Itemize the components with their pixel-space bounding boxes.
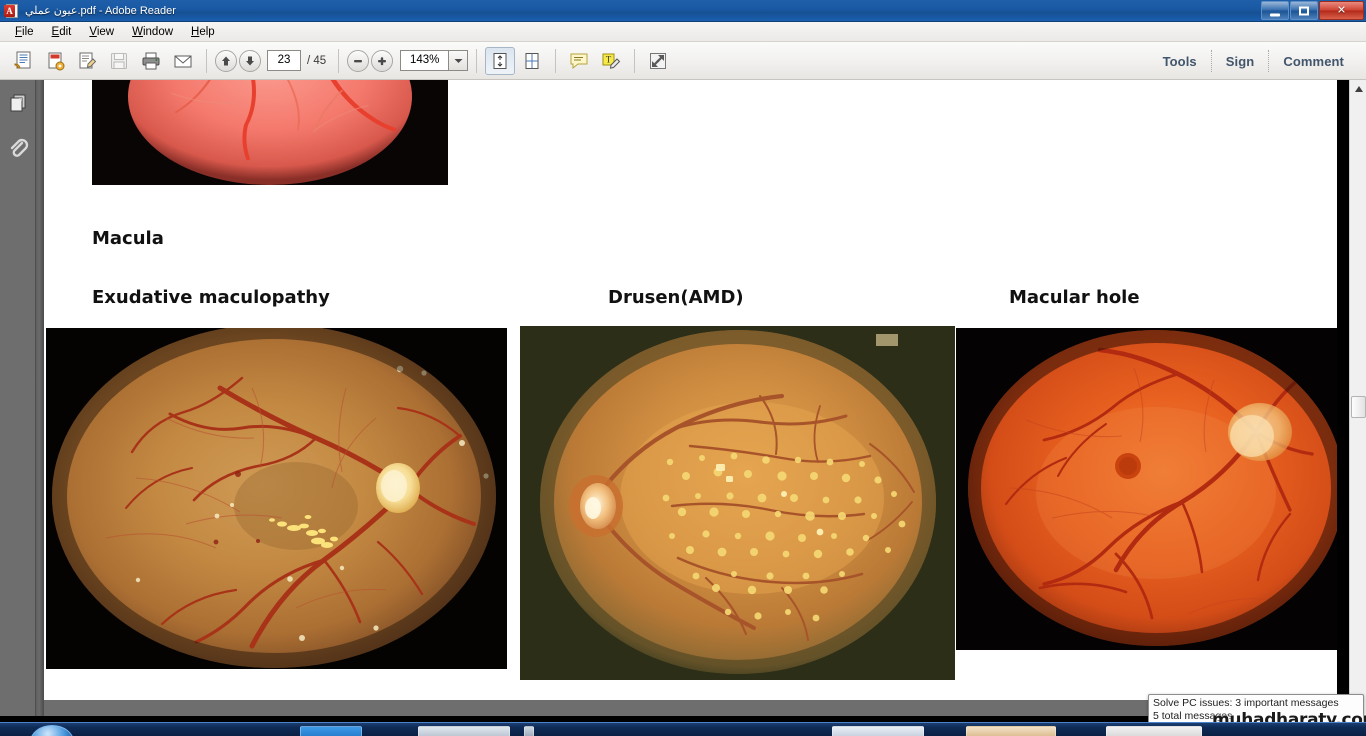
- fundus-drusen-amd: [520, 326, 955, 680]
- toolbar-separator-5: [634, 49, 635, 73]
- tooltip-line-1: Solve PC issues: 3 important messages: [1153, 697, 1359, 710]
- chevron-down-icon: [454, 58, 463, 64]
- taskbar-item-app2-icon[interactable]: [966, 726, 1056, 736]
- annotation-group: T: [561, 47, 629, 75]
- create-pdf-icon: [44, 50, 66, 72]
- read-mode-group: [640, 47, 676, 75]
- save-button[interactable]: [104, 47, 134, 75]
- close-icon: ✕: [1337, 5, 1346, 16]
- close-button[interactable]: ✕: [1319, 1, 1364, 20]
- print-icon: [140, 50, 162, 72]
- attachments-button[interactable]: [0, 126, 36, 172]
- figure-caption-drusen-amd: Drusen(AMD): [608, 287, 744, 308]
- minus-icon: [351, 54, 365, 68]
- fit-width-button[interactable]: [517, 47, 547, 75]
- navigation-pane: [0, 80, 36, 716]
- windows-start-orb[interactable]: [30, 725, 74, 736]
- sticky-note-icon: [568, 51, 590, 71]
- figure-caption-macular-hole: Macular hole: [1009, 287, 1140, 308]
- minimize-button[interactable]: [1261, 1, 1289, 20]
- menu-item-view[interactable]: View: [80, 23, 123, 41]
- document-view[interactable]: Macula Exudative maculopathy Drusen(AMD)…: [44, 80, 1337, 716]
- scroll-up-button[interactable]: [1350, 80, 1366, 97]
- zoom-out-button[interactable]: [347, 50, 369, 72]
- toolbar-separator-4: [555, 49, 556, 73]
- page-width-icon: [522, 51, 542, 71]
- toolbar: 23 / 45 143%: [0, 42, 1366, 80]
- scrollbar-thumb[interactable]: [1351, 396, 1366, 418]
- previous-page-button[interactable]: [215, 50, 237, 72]
- vertical-scrollbar[interactable]: [1349, 80, 1366, 716]
- open-file-icon: [12, 50, 34, 72]
- attachments-icon: [6, 137, 30, 161]
- create-pdf-button[interactable]: [40, 47, 70, 75]
- fullscreen-icon: [647, 51, 669, 71]
- highlight-text-button[interactable]: T: [596, 47, 626, 75]
- menu-item-edit[interactable]: Edit: [43, 23, 81, 41]
- navigation-splitter[interactable]: [36, 80, 44, 716]
- open-file-button[interactable]: [8, 47, 38, 75]
- page-thumbnails-icon: [6, 91, 30, 115]
- page-navigation-group: 23 / 45: [212, 50, 333, 72]
- arrow-down-icon: [243, 54, 257, 68]
- zoom-level-input[interactable]: 143%: [400, 50, 448, 71]
- menu-label-help: elp: [199, 26, 214, 38]
- menu-label-file: ile: [22, 26, 34, 38]
- read-mode-button[interactable]: [643, 47, 673, 75]
- save-icon: [108, 50, 130, 72]
- email-button[interactable]: [168, 47, 198, 75]
- figure-caption-exudative-maculopathy: Exudative maculopathy: [92, 287, 330, 308]
- next-page-button[interactable]: [239, 50, 261, 72]
- zoom-group: 143%: [344, 50, 471, 72]
- title-bar: A عيون عملي.pdf - Adobe Reader ✕: [0, 0, 1366, 22]
- menu-label-edit: dit: [59, 26, 71, 38]
- file-tools-group: [0, 47, 201, 75]
- fundus-pink-retina-partial: [92, 80, 448, 185]
- page-thumbnails-button[interactable]: [0, 80, 36, 126]
- zoom-dropdown-button[interactable]: [448, 50, 468, 71]
- fundus-macular-hole: [956, 328, 1337, 650]
- menu-item-file[interactable]: File: [6, 23, 43, 41]
- page-fit-icon: [490, 51, 510, 71]
- toolbar-separator-2: [338, 49, 339, 73]
- highlight-text-icon: T: [600, 51, 622, 71]
- print-button[interactable]: [136, 47, 166, 75]
- menu-label-window: indow: [143, 26, 173, 38]
- taskbar-item-app1-icon[interactable]: [832, 726, 924, 736]
- menu-item-window[interactable]: Window: [123, 23, 182, 41]
- pdf-page-23: Macula Exudative maculopathy Drusen(AMD)…: [44, 80, 1337, 700]
- windows-taskbar: [0, 722, 1366, 736]
- taskbar-item-media-icon[interactable]: [524, 726, 534, 736]
- sticky-note-button[interactable]: [564, 47, 594, 75]
- task-buttons-group: Tools Sign Comment: [1149, 42, 1366, 80]
- edit-pdf-icon: [76, 50, 98, 72]
- toolbar-separator-1: [206, 49, 207, 73]
- current-page-input[interactable]: 23: [267, 50, 301, 71]
- taskbar-item-app3-icon[interactable]: [1106, 726, 1202, 736]
- tools-button[interactable]: Tools: [1149, 50, 1211, 73]
- taskbar-item-explorer-icon[interactable]: [418, 726, 510, 736]
- section-title-macula: Macula: [92, 228, 164, 249]
- svg-text:T: T: [606, 54, 612, 64]
- adobe-reader-icon: A: [4, 3, 20, 19]
- comment-button[interactable]: Comment: [1269, 50, 1358, 73]
- arrow-up-icon: [219, 54, 233, 68]
- total-pages-label: / 45: [307, 55, 326, 67]
- edit-pdf-button[interactable]: [72, 47, 102, 75]
- page-display-group: [482, 47, 550, 75]
- adobe-reader-window: A عيون عملي.pdf - Adobe Reader ✕ File Ed…: [0, 0, 1366, 736]
- menu-bar: File Edit View Window Help: [0, 22, 1366, 42]
- zoom-in-button[interactable]: [371, 50, 393, 72]
- toolbar-separator-3: [476, 49, 477, 73]
- sign-button[interactable]: Sign: [1212, 50, 1269, 73]
- maximize-restore-button[interactable]: [1290, 1, 1318, 20]
- menu-label-view: iew: [97, 26, 114, 38]
- fundus-exudative-maculopathy: [46, 328, 507, 669]
- taskbar-item-ie-icon[interactable]: [300, 726, 362, 736]
- menu-item-help[interactable]: Help: [182, 23, 224, 41]
- plus-icon: [375, 54, 389, 68]
- fit-page-button[interactable]: [485, 47, 515, 75]
- window-title: عيون عملي.pdf - Adobe Reader: [25, 0, 176, 22]
- window-controls: ✕: [1261, 1, 1364, 20]
- caret-up-icon: [1355, 86, 1363, 92]
- email-icon: [172, 50, 194, 72]
